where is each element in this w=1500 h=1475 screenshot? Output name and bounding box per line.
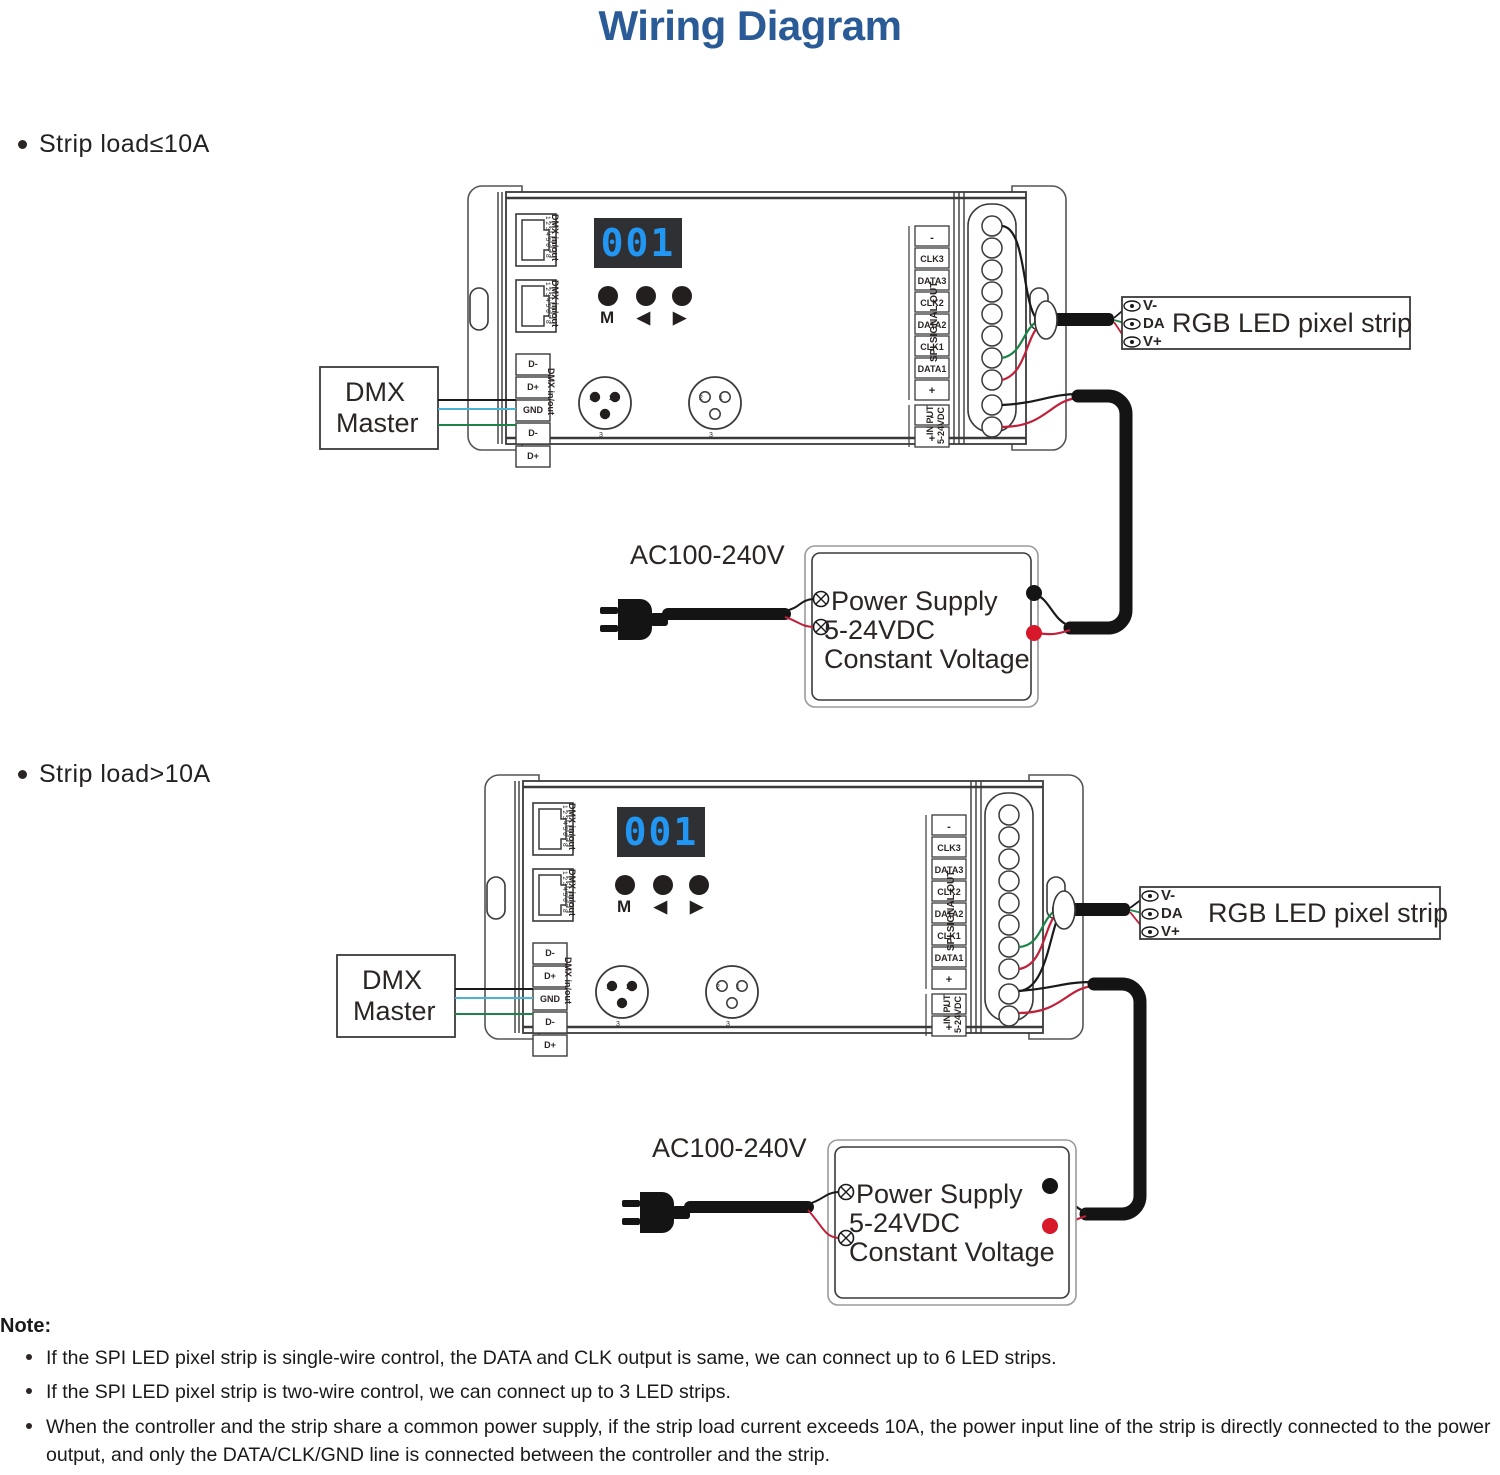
channel-display-value-2: 001 bbox=[624, 810, 699, 854]
xlr-male-pin-2-2: 2 bbox=[626, 984, 630, 991]
xlr-female-pin-2-2: 1 bbox=[736, 984, 740, 991]
dmx-master-line2-2: Master bbox=[353, 996, 436, 1027]
led-strip-terminal-0-2: V- bbox=[1161, 887, 1175, 904]
dmx-terminal-0-2: D- bbox=[533, 948, 567, 958]
mode-button-2[interactable] bbox=[615, 875, 635, 895]
xlr-male-connector[interactable] bbox=[579, 377, 631, 429]
psu-dc-positive-2 bbox=[1042, 1218, 1058, 1234]
input-group-label-line1-2: IN PUT bbox=[942, 994, 952, 1024]
xlr-female-pin-2: 1 bbox=[719, 395, 723, 402]
psu-line2: 5-24VDC bbox=[824, 615, 935, 646]
dmx-terminal-4: D+ bbox=[516, 451, 550, 461]
next-button-label-2: ▶ bbox=[690, 897, 703, 917]
led-strip-terminal-1: DA bbox=[1143, 315, 1165, 332]
channel-display-value: 001 bbox=[601, 221, 676, 265]
xlr-male-connector[interactable] bbox=[596, 966, 648, 1018]
spi-terminal-7-2: + bbox=[932, 974, 966, 986]
rj45-port-2-label: DMX in/out bbox=[550, 280, 560, 327]
led-strip-terminal-2-2: V+ bbox=[1161, 923, 1180, 940]
spi-group-label: SPI SIGNAL OUT bbox=[929, 282, 940, 362]
psu-cable bbox=[1070, 396, 1126, 628]
dmx-terminal-3-2: D- bbox=[533, 1017, 567, 1027]
xlr-female-pin-3-2: 3 bbox=[726, 1021, 730, 1028]
dmx-master-line1-2: DMX bbox=[362, 965, 422, 996]
rj45-port-1-pins-2: 1 2 3 4 5 6 7 8 bbox=[561, 805, 568, 847]
dmx-terminal-group-label: DMX in/out bbox=[546, 368, 556, 415]
spi-terminal-7: + bbox=[915, 385, 949, 397]
mode-button-label: M bbox=[600, 308, 614, 328]
psu-dc-negative bbox=[1026, 585, 1042, 601]
next-button[interactable] bbox=[672, 286, 692, 306]
next-button-label: ▶ bbox=[673, 308, 686, 328]
dmx-terminal-2: GND bbox=[516, 405, 550, 415]
ac-input-label-2: AC100-240V bbox=[652, 1133, 807, 1164]
note-item: If the SPI LED pixel strip is single-wir… bbox=[26, 1344, 1500, 1372]
notes-label: Note: bbox=[0, 1312, 1500, 1341]
psu-dc-negative-2 bbox=[1042, 1178, 1058, 1194]
prev-button[interactable] bbox=[636, 286, 656, 306]
note-item: If the SPI LED pixel strip is two-wire c… bbox=[26, 1378, 1500, 1406]
xlr-male-pin-3: 3 bbox=[599, 432, 603, 439]
xlr-female-pin-3: 3 bbox=[709, 432, 713, 439]
mode-button-label-2: M bbox=[617, 897, 631, 917]
dmx-terminal-3: D- bbox=[516, 428, 550, 438]
spi-terminal-0: - bbox=[915, 232, 949, 244]
dmx-terminal-1: D+ bbox=[516, 382, 550, 392]
ac-plug-icon bbox=[600, 599, 668, 640]
cable-gland-2 bbox=[1053, 891, 1075, 929]
led-strip-name: RGB LED pixel strip bbox=[1172, 308, 1412, 339]
xlr-female-connector[interactable] bbox=[689, 377, 741, 429]
led-strip-terminal-2: V+ bbox=[1143, 333, 1162, 350]
psu-cable-2 bbox=[1086, 984, 1140, 1214]
input-group-label-line2-2: 5-24VDC bbox=[953, 996, 963, 1033]
xlr-male-pin-2: 2 bbox=[609, 395, 613, 402]
dmx-terminal-0: D- bbox=[516, 359, 550, 369]
wiring-diagram-page: Wiring Diagram Strip load≤10A Strip load… bbox=[0, 0, 1500, 1470]
input-group-label-line1: IN PUT bbox=[925, 405, 935, 435]
rj45-port-2-pins-2: 1 2 3 4 5 6 7 8 bbox=[561, 871, 568, 913]
channel-display-2: 001 bbox=[617, 807, 705, 857]
xlr-female-connector[interactable] bbox=[706, 966, 758, 1018]
mode-button[interactable] bbox=[598, 286, 618, 306]
channel-display: 001 bbox=[594, 218, 682, 268]
input-group-label-line2: 5-24VDC bbox=[936, 407, 946, 444]
xlr-female-pin-1-2: 2 bbox=[716, 984, 720, 991]
note-item: When the controller and the strip share … bbox=[26, 1413, 1500, 1470]
prev-button-label-2: ◀ bbox=[654, 897, 667, 917]
led-strip-terminals-2 bbox=[1142, 891, 1158, 937]
xlr-male-pin-1: 1 bbox=[589, 395, 593, 402]
notes-section: Note: If the SPI LED pixel strip is sing… bbox=[0, 1312, 1500, 1475]
led-strip-terminal-0: V- bbox=[1143, 297, 1157, 314]
prev-button-2[interactable] bbox=[653, 875, 673, 895]
xlr-male-pin-1-2: 1 bbox=[606, 984, 610, 991]
spi-terminal-1: CLK3 bbox=[915, 254, 949, 264]
spi-group-label-2: SPI SIGNAL OUT bbox=[946, 871, 957, 951]
notes-list: If the SPI LED pixel strip is single-wir… bbox=[0, 1344, 1500, 1469]
rj45-port-1-label-2: DMX in/out bbox=[567, 803, 577, 850]
psu-dc-positive bbox=[1026, 625, 1042, 641]
spi-terminal-6-2: DATA1 bbox=[932, 953, 966, 963]
dmx-master-line1: DMX bbox=[345, 377, 405, 408]
rj45-port-2-pins: 1 2 3 4 5 6 7 8 bbox=[544, 282, 551, 324]
dmx-terminal-4-2: D+ bbox=[533, 1040, 567, 1050]
dmx-terminal-group-label-2: DMX in/out bbox=[563, 957, 573, 1004]
psu-line3-2: Constant Voltage bbox=[849, 1237, 1055, 1268]
xlr-female-pin-1: 2 bbox=[699, 395, 703, 402]
prev-button-label: ◀ bbox=[637, 308, 650, 328]
spi-terminal-0-2: - bbox=[932, 821, 966, 833]
rj45-port-1-label: DMX in/out bbox=[550, 214, 560, 261]
next-button-2[interactable] bbox=[689, 875, 709, 895]
ac-input-label: AC100-240V bbox=[630, 540, 785, 571]
cable-gland bbox=[1035, 301, 1057, 339]
rj45-port-1-pins: 1 2 3 4 5 6 7 8 bbox=[544, 216, 551, 258]
spi-terminal-1-2: CLK3 bbox=[932, 843, 966, 853]
psu-line3: Constant Voltage bbox=[824, 644, 1030, 675]
diagram-canvas bbox=[0, 0, 1500, 1470]
dmx-master-line2: Master bbox=[336, 408, 419, 439]
rj45-port-2-label-2: DMX in/out bbox=[567, 869, 577, 916]
spi-terminal-6: DATA1 bbox=[915, 364, 949, 374]
dmx-terminal-1-2: D+ bbox=[533, 971, 567, 981]
led-strip-name-2: RGB LED pixel strip bbox=[1208, 898, 1448, 929]
ac-plug-icon-2 bbox=[622, 1192, 690, 1233]
psu-line2-2: 5-24VDC bbox=[849, 1208, 960, 1239]
dmx-terminal-2-2: GND bbox=[533, 994, 567, 1004]
xlr-male-pin-3-2: 3 bbox=[616, 1021, 620, 1028]
psu-line1: Power Supply bbox=[831, 586, 998, 617]
psu-line1-2: Power Supply bbox=[856, 1179, 1023, 1210]
led-strip-terminal-1-2: DA bbox=[1161, 905, 1183, 922]
led-strip-terminals bbox=[1124, 301, 1140, 347]
